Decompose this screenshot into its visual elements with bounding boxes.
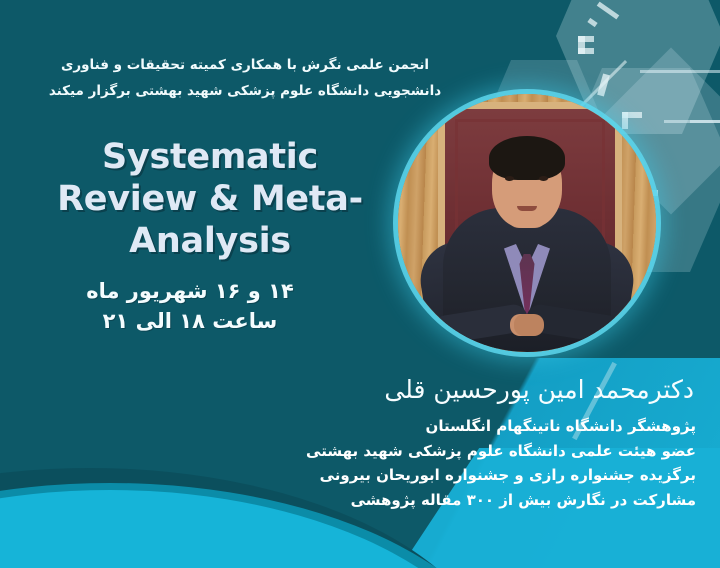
speaker-credentials: پژوهشگر دانشگاه ناتینگهام انگلستان عضو ه… [226, 414, 696, 512]
speaker-portrait [398, 94, 656, 352]
title-line-3: Analysis [34, 220, 386, 262]
portrait-eye-left [505, 176, 514, 181]
credential-line: عضو هیئت علمی دانشگاه علوم پزشکی شهید به… [226, 439, 696, 464]
portrait-hand-right [514, 314, 544, 336]
organizer-text: انجمن علمی نگرش با همکاری کمیته تحقیقات … [30, 52, 460, 104]
page-title: Systematic Review & Meta- Analysis [34, 136, 386, 262]
event-date: ۱۴ و ۱۶ شهریور ماه [40, 276, 340, 306]
title-line-2: Review & Meta- [34, 178, 386, 220]
credential-line: پژوهشگر دانشگاه ناتینگهام انگلستان [226, 414, 696, 439]
credential-line: مشارکت در نگارش بیش از ۳۰۰ مقاله پژوهشی [226, 488, 696, 513]
tick-mark-5 [578, 48, 594, 54]
organizer-line-2: دانشجویی دانشگاه علوم پزشکی شهید بهشتی ب… [30, 78, 460, 104]
hairline-1 [640, 70, 720, 73]
event-poster: انجمن علمی نگرش با همکاری کمیته تحقیقات … [0, 0, 720, 568]
schedule-block: ۱۴ و ۱۶ شهریور ماه ساعت ۱۸ الی ۲۱ [40, 276, 340, 336]
portrait-mouth [517, 206, 537, 211]
event-time: ساعت ۱۸ الی ۲۱ [40, 306, 340, 336]
portrait-hair [489, 136, 565, 180]
portrait-eye-right [539, 176, 548, 181]
credential-line: برگزیده جشنواره رازی و جشنواره ابوریحان … [226, 463, 696, 488]
organizer-line-1: انجمن علمی نگرش با همکاری کمیته تحقیقات … [30, 52, 460, 78]
title-line-1: Systematic [34, 136, 386, 178]
tick-mark-4 [578, 36, 594, 42]
speaker-name: دکترمحمد امین پورحسین قلی [254, 374, 694, 406]
hairline-3 [690, 120, 720, 123]
